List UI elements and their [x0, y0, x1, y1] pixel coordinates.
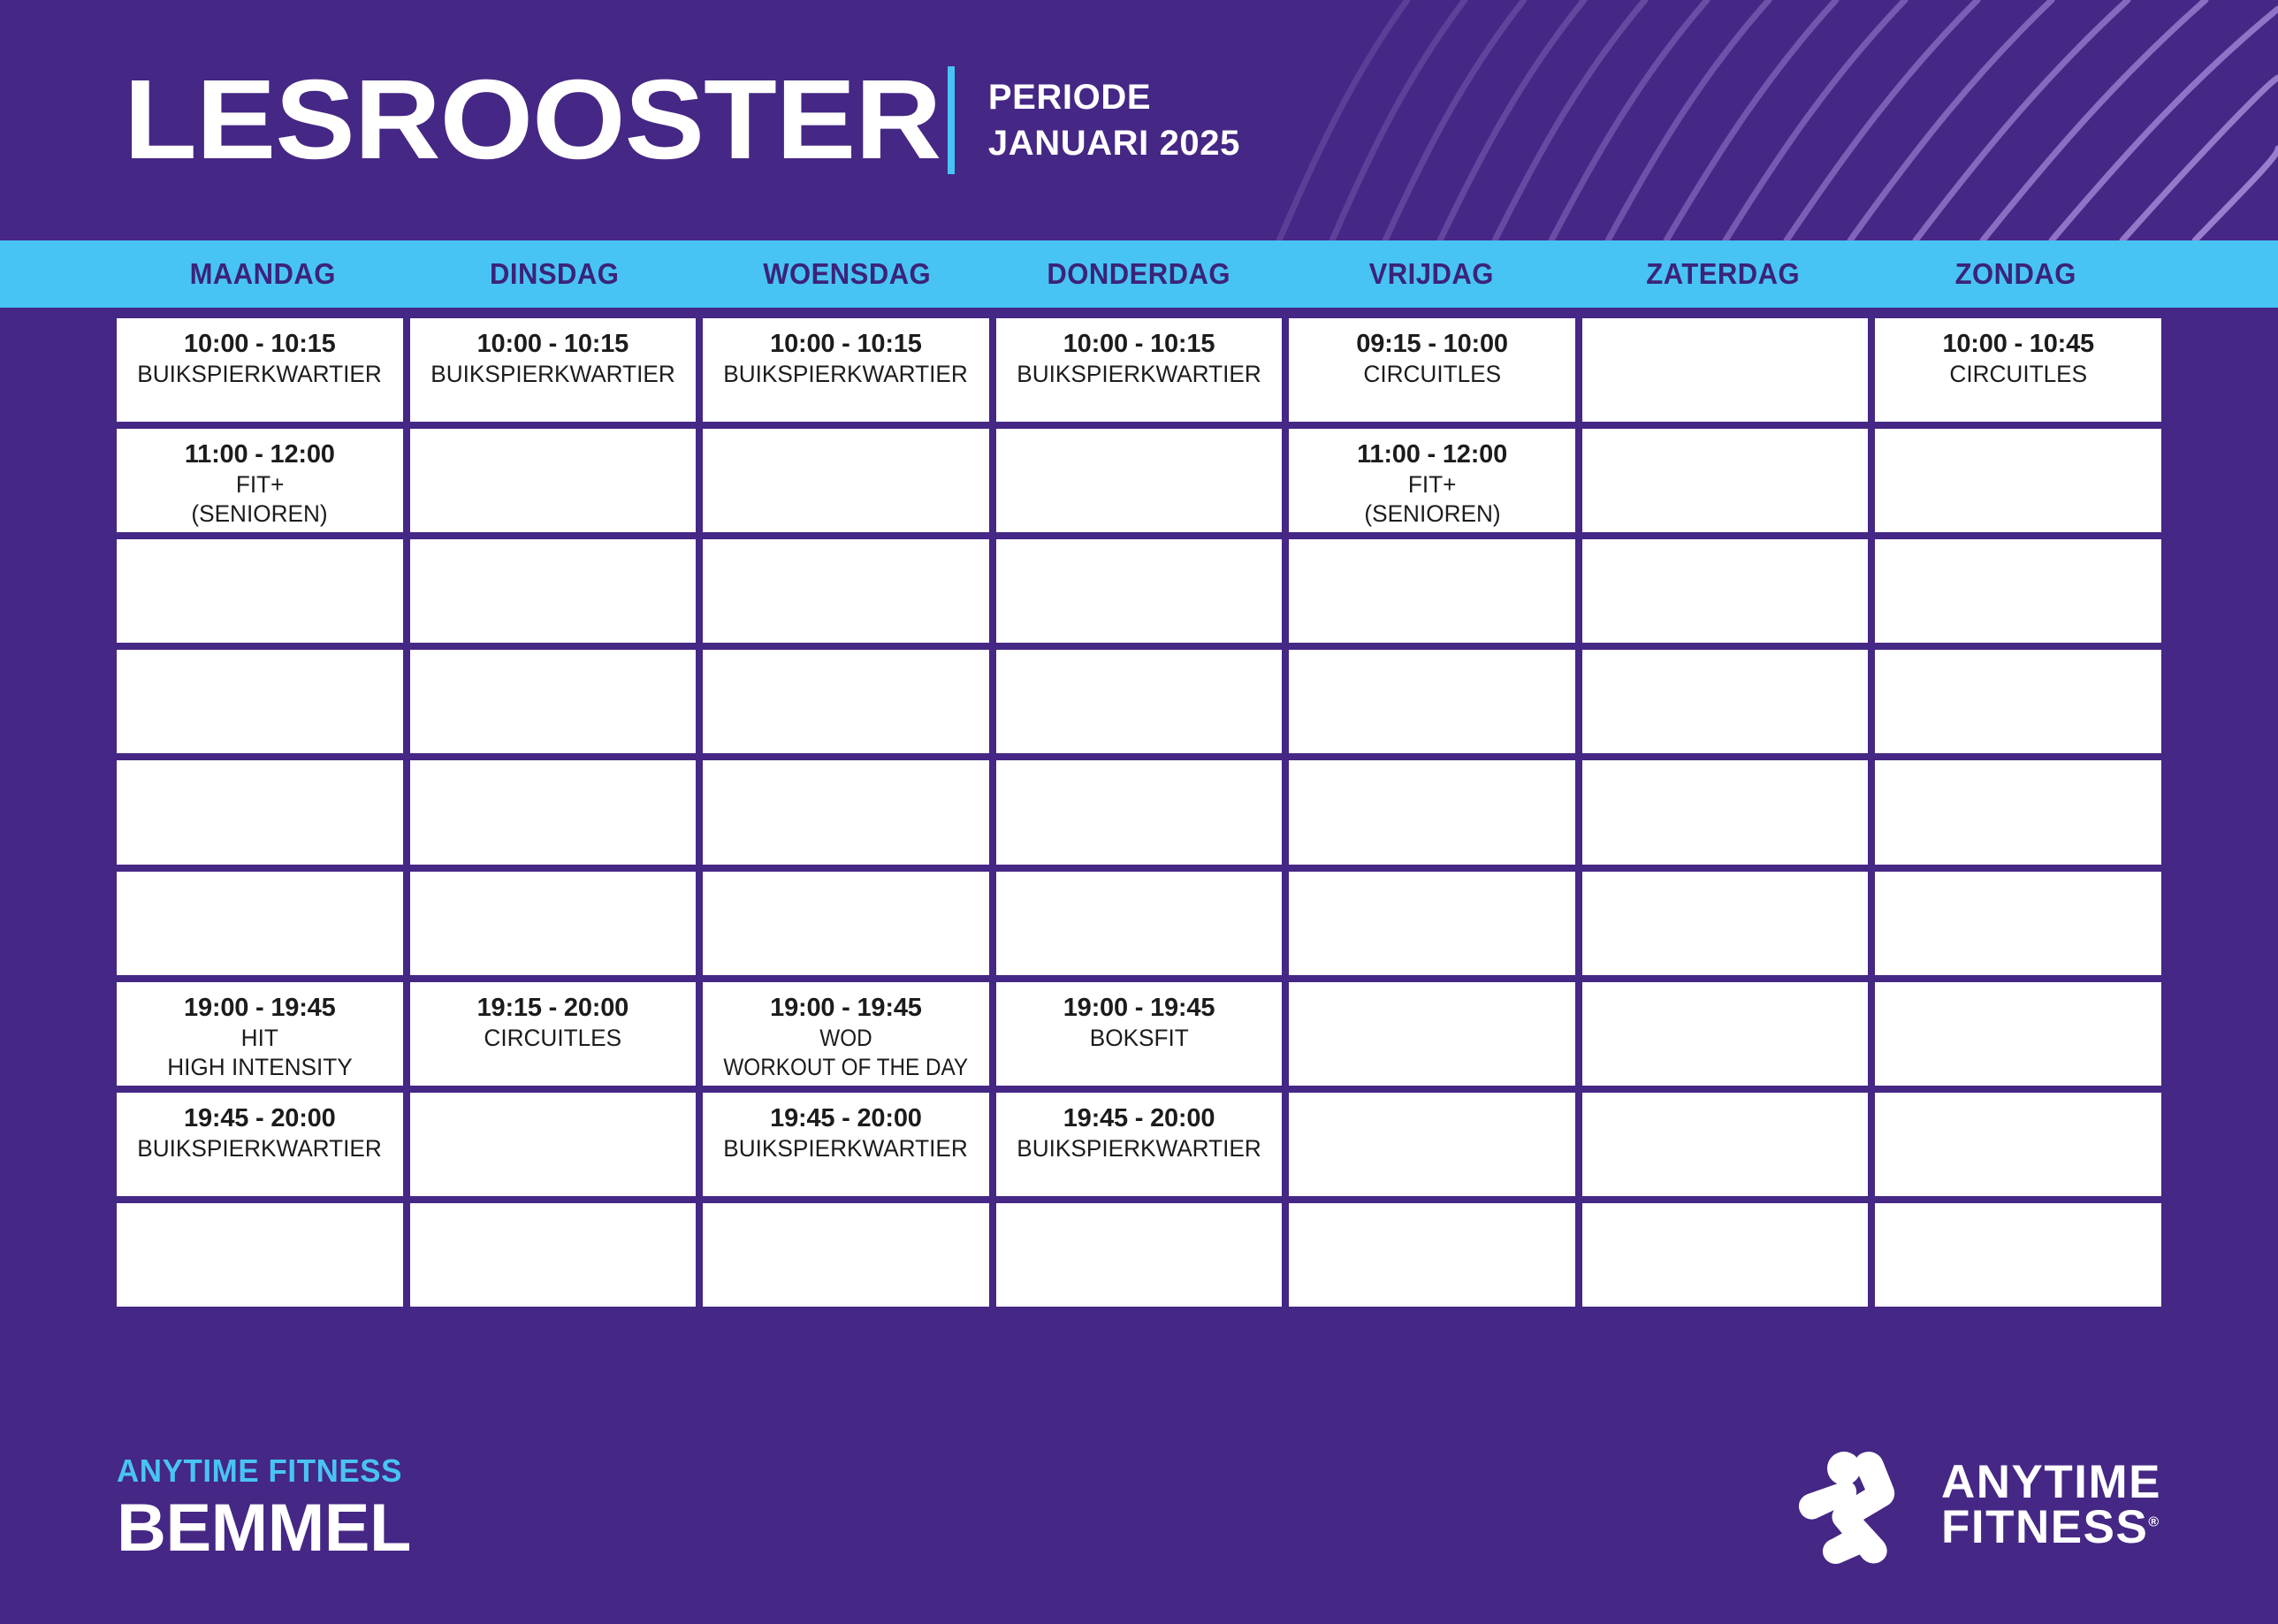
poster-footer: ANYTIME FITNESS BEMMEL ANYTIME FITNESS®: [0, 1399, 2278, 1624]
schedule-grid-wrapper: 10:00 - 10:15BUIKSPIERKWARTIER10:00 - 10…: [0, 308, 2278, 1399]
schedule-cell-empty-zaterdag-8: [1582, 1093, 1869, 1196]
schedule-cell-empty-dinsdag-5: [410, 760, 697, 864]
schedule-cell-empty-woensdag-9: [703, 1203, 989, 1307]
class-time: 19:45 - 20:00: [770, 1103, 922, 1134]
period-label: PERIODE: [988, 77, 1240, 118]
schedule-cell-empty-maandag-5: [117, 760, 403, 864]
class-name: BUIKSPIERKWARTIER: [138, 1134, 383, 1163]
class-name: (SENIOREN): [192, 499, 328, 529]
class-name: FIT+: [1408, 470, 1457, 499]
schedule-cell-empty-maandag-9: [117, 1203, 403, 1307]
schedule-cell-empty-woensdag-6: [703, 872, 989, 975]
schedule-cell-empty-vrijdag-7: [1289, 982, 1575, 1086]
lesrooster-poster: LESROOSTER PERIODE JANUARI 2025 MAANDAG …: [0, 0, 2278, 1624]
logo-wordmark: ANYTIME FITNESS®: [1941, 1460, 2161, 1551]
logo-word-anytime: ANYTIME: [1941, 1460, 2161, 1506]
day-header-woensdag: WOENSDAG: [710, 257, 985, 291]
class-time: 10:00 - 10:15: [1063, 329, 1215, 360]
running-man-icon: [1794, 1447, 1927, 1564]
schedule-cell-empty-donderdag-6: [996, 872, 1283, 975]
day-header-vrijdag: VRIJDAG: [1294, 257, 1569, 291]
day-header-zondag: ZONDAG: [1878, 257, 2152, 291]
class-name: HIT: [241, 1024, 278, 1053]
schedule-cell-dinsdag-1[interactable]: 10:00 - 10:15BUIKSPIERKWARTIER: [410, 318, 697, 422]
schedule-cell-maandag-7[interactable]: 19:00 - 19:45HITHIGH INTENSITY: [117, 982, 403, 1086]
schedule-cell-maandag-8[interactable]: 19:45 - 20:00BUIKSPIERKWARTIER: [117, 1093, 403, 1196]
schedule-cell-empty-woensdag-3: [703, 539, 989, 643]
class-name: CIRCUITLES: [1363, 360, 1501, 389]
schedule-cell-woensdag-7[interactable]: 19:00 - 19:45WODWORKOUT OF THE DAY: [703, 982, 989, 1086]
schedule-cell-empty-zaterdag-5: [1582, 760, 1869, 864]
schedule-cell-empty-donderdag-9: [996, 1203, 1283, 1307]
schedule-cell-empty-zaterdag-6: [1582, 872, 1869, 975]
class-time: 10:00 - 10:15: [477, 329, 629, 360]
schedule-cell-donderdag-1[interactable]: 10:00 - 10:15BUIKSPIERKWARTIER: [996, 318, 1283, 422]
schedule-cell-zondag-1[interactable]: 10:00 - 10:45CIRCUITLES: [1875, 318, 2161, 422]
schedule-cell-empty-maandag-6: [117, 872, 403, 975]
schedule-cell-maandag-1[interactable]: 10:00 - 10:15BUIKSPIERKWARTIER: [117, 318, 403, 422]
schedule-cell-empty-zondag-8: [1875, 1093, 2161, 1196]
schedule-cell-dinsdag-7[interactable]: 19:15 - 20:00CIRCUITLES: [410, 982, 697, 1086]
class-name: BUIKSPIERKWARTIER: [430, 360, 675, 389]
schedule-cell-empty-vrijdag-5: [1289, 760, 1575, 864]
class-name: HIGH INTENSITY: [167, 1053, 353, 1082]
schedule-cell-empty-zaterdag-2: [1582, 429, 1869, 532]
schedule-cell-empty-zondag-3: [1875, 539, 2161, 643]
schedule-cell-empty-dinsdag-6: [410, 872, 697, 975]
logo-word-fitness-text: FITNESS: [1941, 1501, 2148, 1553]
class-name: BUIKSPIERKWARTIER: [138, 360, 383, 389]
schedule-cell-woensdag-1[interactable]: 10:00 - 10:15BUIKSPIERKWARTIER: [703, 318, 989, 422]
registered-mark: ®: [2148, 1514, 2159, 1529]
schedule-cell-donderdag-7[interactable]: 19:00 - 19:45BOKSFIT: [996, 982, 1283, 1086]
poster-header: LESROOSTER PERIODE JANUARI 2025: [0, 0, 2278, 240]
class-time: 19:45 - 20:00: [1063, 1103, 1215, 1134]
class-time: 09:15 - 10:00: [1356, 329, 1508, 360]
club-identity: ANYTIME FITNESS BEMMEL: [117, 1452, 411, 1571]
schedule-cell-empty-donderdag-4: [996, 650, 1283, 753]
class-time: 10:00 - 10:15: [770, 329, 922, 360]
day-header-dinsdag: DINSDAG: [417, 257, 692, 291]
day-header-zaterdag: ZATERDAG: [1586, 257, 1861, 291]
logo-word-fitness: FITNESS®: [1941, 1506, 2161, 1551]
schedule-cell-empty-vrijdag-9: [1289, 1203, 1575, 1307]
schedule-cell-empty-zondag-7: [1875, 982, 2161, 1086]
club-name: BEMMEL: [117, 1495, 417, 1562]
schedule-cell-empty-donderdag-3: [996, 539, 1283, 643]
schedule-cell-woensdag-8[interactable]: 19:45 - 20:00BUIKSPIERKWARTIER: [703, 1093, 989, 1196]
period-block: PERIODE JANUARI 2025: [988, 77, 1240, 164]
brand-label: ANYTIME FITNESS: [117, 1452, 402, 1490]
class-time: 19:00 - 19:45: [184, 993, 336, 1024]
schedule-cell-empty-zaterdag-4: [1582, 650, 1869, 753]
schedule-cell-empty-dinsdag-3: [410, 539, 697, 643]
schedule-cell-empty-vrijdag-8: [1289, 1093, 1575, 1196]
schedule-cell-empty-dinsdag-9: [410, 1203, 697, 1307]
schedule-cell-empty-zondag-9: [1875, 1203, 2161, 1307]
class-name: BUIKSPIERKWARTIER: [724, 360, 969, 389]
title-divider: [948, 66, 955, 174]
schedule-cell-empty-woensdag-4: [703, 650, 989, 753]
class-time: 19:45 - 20:00: [184, 1103, 336, 1134]
schedule-cell-empty-maandag-3: [117, 539, 403, 643]
day-header-maandag: MAANDAG: [126, 257, 400, 291]
day-header-bar: MAANDAG DINSDAG WOENSDAG DONDERDAG VRIJD…: [0, 240, 2278, 308]
class-name: WOD: [819, 1024, 872, 1053]
class-name: CIRCUITLES: [1949, 360, 2087, 389]
schedule-cell-empty-zondag-6: [1875, 872, 2161, 975]
schedule-cell-empty-woensdag-2: [703, 429, 989, 532]
class-time: 10:00 - 10:45: [1942, 329, 2094, 360]
anytime-fitness-logo: ANYTIME FITNESS®: [1794, 1447, 2161, 1576]
schedule-cell-donderdag-8[interactable]: 19:45 - 20:00BUIKSPIERKWARTIER: [996, 1093, 1283, 1196]
schedule-cell-empty-vrijdag-3: [1289, 539, 1575, 643]
class-name: WORKOUT OF THE DAY: [724, 1053, 969, 1082]
class-name: BUIKSPIERKWARTIER: [1017, 1134, 1261, 1163]
period-value: JANUARI 2025: [988, 123, 1240, 164]
schedule-cell-empty-zaterdag-7: [1582, 982, 1869, 1086]
schedule-cell-empty-dinsdag-2: [410, 429, 697, 532]
schedule-cell-vrijdag-2[interactable]: 11:00 - 12:00FIT+(SENIOREN): [1289, 429, 1575, 532]
class-time: 19:00 - 19:45: [1063, 993, 1215, 1024]
schedule-cell-empty-woensdag-5: [703, 760, 989, 864]
schedule-cell-empty-zondag-5: [1875, 760, 2161, 864]
class-time: 19:00 - 19:45: [770, 993, 922, 1024]
class-name: BUIKSPIERKWARTIER: [724, 1134, 969, 1163]
page-title: LESROOSTER: [124, 64, 941, 177]
schedule-cell-empty-dinsdag-4: [410, 650, 697, 753]
class-time: 11:00 - 12:00: [185, 439, 335, 470]
schedule-cell-empty-zaterdag-9: [1582, 1203, 1869, 1307]
schedule-cell-empty-zondag-2: [1875, 429, 2161, 532]
class-name: CIRCUITLES: [484, 1024, 621, 1053]
schedule-cell-empty-donderdag-5: [996, 760, 1283, 864]
schedule-cell-empty-vrijdag-4: [1289, 650, 1575, 753]
class-name: (SENIOREN): [1364, 499, 1500, 529]
schedule-cell-empty-maandag-4: [117, 650, 403, 753]
class-name: BOKSFIT: [1089, 1024, 1188, 1053]
class-name: FIT+: [235, 470, 284, 499]
class-time: 19:15 - 20:00: [477, 993, 629, 1024]
class-time: 10:00 - 10:15: [184, 329, 336, 360]
schedule-cell-maandag-2[interactable]: 11:00 - 12:00FIT+(SENIOREN): [117, 429, 403, 532]
schedule-cell-empty-zondag-4: [1875, 650, 2161, 753]
schedule-cell-vrijdag-1[interactable]: 09:15 - 10:00CIRCUITLES: [1289, 318, 1575, 422]
schedule-cell-empty-vrijdag-6: [1289, 872, 1575, 975]
class-time: 11:00 - 12:00: [1357, 439, 1507, 470]
schedule-cell-empty-dinsdag-8: [410, 1093, 697, 1196]
schedule-cell-empty-zaterdag-3: [1582, 539, 1869, 643]
day-header-donderdag: DONDERDAG: [1002, 257, 1276, 291]
schedule-grid: 10:00 - 10:15BUIKSPIERKWARTIER10:00 - 10…: [117, 318, 2161, 1307]
class-name: BUIKSPIERKWARTIER: [1017, 360, 1261, 389]
schedule-cell-empty-zaterdag-1: [1582, 318, 1869, 422]
schedule-cell-empty-donderdag-2: [996, 429, 1283, 532]
